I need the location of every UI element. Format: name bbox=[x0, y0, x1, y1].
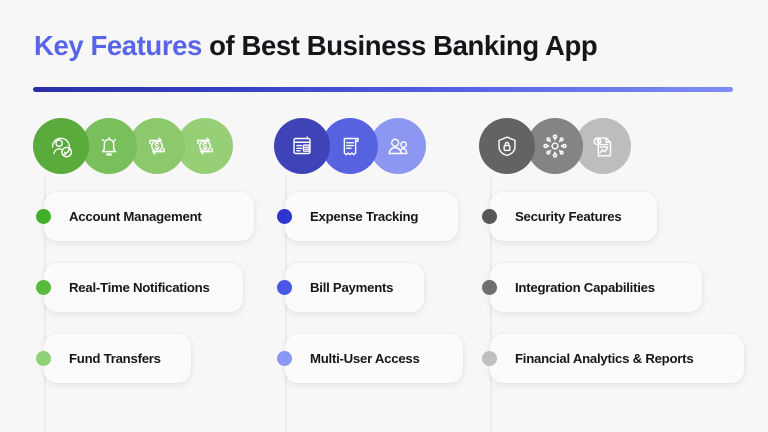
page-title-rest: of Best Business Banking App bbox=[202, 30, 597, 61]
page-title: Key Features of Best Business Banking Ap… bbox=[34, 30, 597, 62]
multi-user-icon bbox=[370, 118, 426, 174]
analytics-report-icon bbox=[575, 118, 631, 174]
feature-dot bbox=[36, 351, 51, 366]
money-transfer-icon bbox=[129, 118, 185, 174]
feature-dot bbox=[482, 351, 497, 366]
feature-card[interactable]: Account Management bbox=[44, 192, 254, 241]
feature-label: Integration Capabilities bbox=[515, 280, 655, 295]
title-divider bbox=[33, 87, 733, 92]
infographic-page: Key Features of Best Business Banking Ap… bbox=[0, 0, 768, 432]
feature-dot bbox=[277, 209, 292, 224]
feature-card[interactable]: Integration Capabilities bbox=[490, 263, 702, 312]
feature-dot bbox=[482, 280, 497, 295]
feature-card[interactable]: Security Features bbox=[490, 192, 657, 241]
feature-card[interactable]: Multi-User Access bbox=[285, 334, 463, 383]
feature-label: Multi-User Access bbox=[310, 351, 420, 366]
money-transfer-icon bbox=[177, 118, 233, 174]
feature-label: Security Features bbox=[515, 209, 621, 224]
feature-dot bbox=[36, 280, 51, 295]
notification-bell-icon bbox=[81, 118, 137, 174]
page-title-highlight: Key Features bbox=[34, 30, 202, 61]
feature-label: Expense Tracking bbox=[310, 209, 418, 224]
feature-label: Real-Time Notifications bbox=[69, 280, 210, 295]
feature-label: Financial Analytics & Reports bbox=[515, 351, 693, 366]
feature-card[interactable]: Fund Transfers bbox=[44, 334, 191, 383]
feature-dot bbox=[36, 209, 51, 224]
feature-card[interactable]: Financial Analytics & Reports bbox=[490, 334, 744, 383]
feature-card[interactable]: Expense Tracking bbox=[285, 192, 458, 241]
feature-card[interactable]: Bill Payments bbox=[285, 263, 424, 312]
security-shield-lock-icon bbox=[479, 118, 535, 174]
feature-label: Bill Payments bbox=[310, 280, 393, 295]
feature-label: Fund Transfers bbox=[69, 351, 161, 366]
feature-dot bbox=[482, 209, 497, 224]
integration-gear-icon bbox=[527, 118, 583, 174]
account-user-check-icon bbox=[33, 118, 89, 174]
expense-report-icon bbox=[274, 118, 330, 174]
bill-receipt-icon bbox=[322, 118, 378, 174]
feature-dot bbox=[277, 280, 292, 295]
feature-card[interactable]: Real-Time Notifications bbox=[44, 263, 243, 312]
feature-label: Account Management bbox=[69, 209, 202, 224]
feature-dot bbox=[277, 351, 292, 366]
